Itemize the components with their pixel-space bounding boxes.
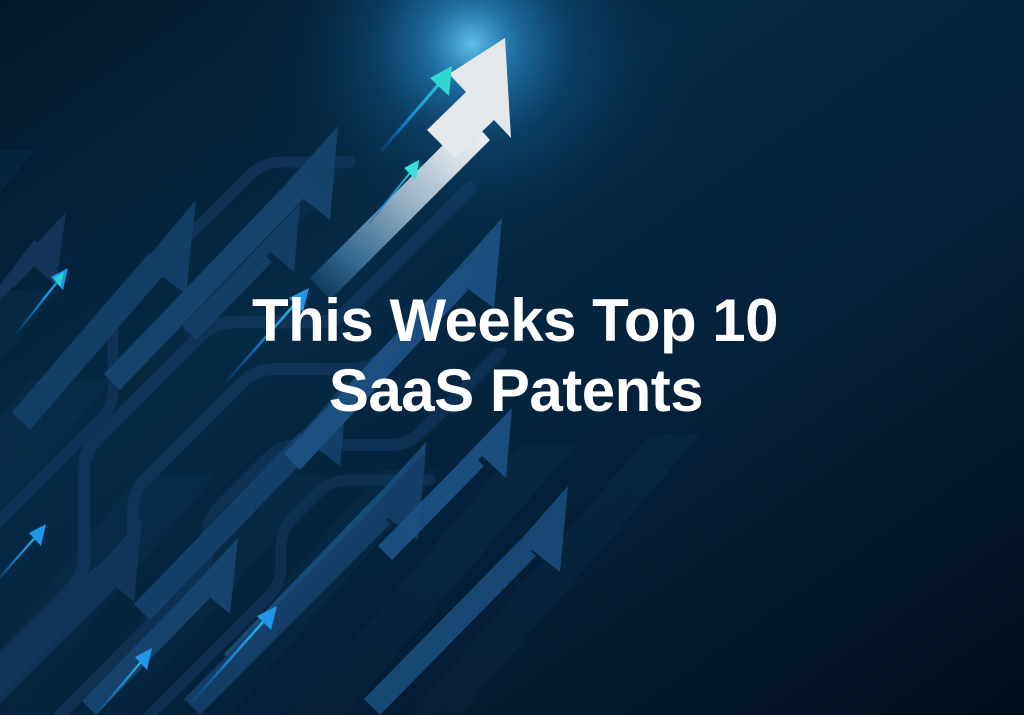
background-artwork <box>0 0 1024 715</box>
poster-canvas: This Weeks Top 10 SaaS Patents <box>0 0 1024 715</box>
